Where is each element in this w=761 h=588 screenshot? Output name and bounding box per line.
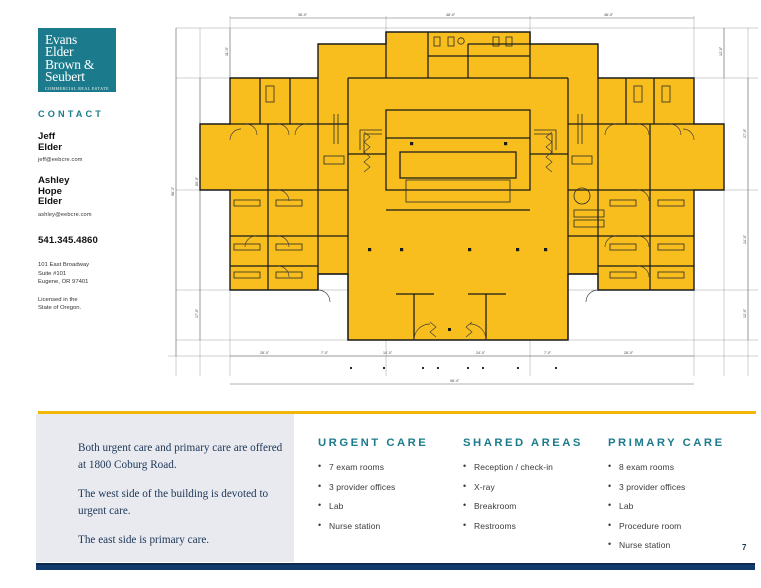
- license-note: Licensed in the State of Oregon.: [38, 296, 148, 313]
- svg-text:7'-0": 7'-0": [544, 351, 552, 355]
- list-item: 7 exam rooms: [318, 462, 458, 472]
- logo-line-4: Seubert: [45, 71, 109, 83]
- address-line-1: 101 East Broadway: [38, 261, 148, 270]
- svg-text:24'-0": 24'-0": [476, 351, 486, 355]
- svg-text:27'-0": 27'-0": [743, 128, 747, 138]
- column-heading: URGENT CARE: [318, 437, 458, 449]
- svg-text:12'-0": 12'-0": [719, 46, 723, 56]
- floorplan-drawing: .fl{fill:#F7BE1E;stroke:#1a1a1a;stroke-w…: [138, 4, 761, 404]
- svg-text:48'-0": 48'-0": [604, 13, 614, 17]
- page-number: 7: [742, 543, 746, 552]
- list-item: X-ray: [463, 482, 603, 492]
- svg-text:28'-0": 28'-0": [624, 351, 634, 355]
- column-shared-areas: SHARED AREAS Reception / check-in X-ray …: [463, 437, 603, 540]
- floorplan-svg: .fl{fill:#F7BE1E;stroke:#1a1a1a;stroke-w…: [138, 4, 761, 404]
- person-2-email[interactable]: ashley@eebcre.com: [38, 212, 148, 218]
- address-line-3: Eugene, OR 97401: [38, 278, 148, 287]
- footer-bar: [36, 563, 755, 570]
- person-2-name-line-3: Elder: [38, 197, 148, 208]
- list-item: Breakroom: [463, 501, 603, 511]
- list-item: Lab: [608, 501, 758, 511]
- contact-phone[interactable]: 541.345.4860: [38, 235, 148, 246]
- list-item: Nurse station: [608, 540, 758, 550]
- svg-text:98'-4": 98'-4": [450, 379, 460, 383]
- list-item: 3 provider offices: [608, 482, 758, 492]
- flyer-page: Evans Elder Brown & Seubert COMMERCIAL R…: [18, 0, 738, 570]
- svg-text:12'-0": 12'-0": [743, 308, 747, 318]
- logo-tagline: COMMERCIAL REAL ESTATE: [45, 87, 109, 91]
- column-heading: SHARED AREAS: [463, 437, 603, 449]
- contact-person-1: Jeff Elder: [38, 132, 148, 153]
- svg-text:98'-3": 98'-3": [171, 186, 175, 196]
- person-1-email[interactable]: jeff@eebcre.com: [38, 157, 148, 163]
- list-item: Restrooms: [463, 521, 603, 531]
- svg-text:28'-0": 28'-0": [260, 351, 270, 355]
- company-logo: Evans Elder Brown & Seubert COMMERCIAL R…: [38, 28, 116, 92]
- blurb-paragraph-3: The east side is primary care.: [78, 532, 283, 549]
- list-item: 3 provider offices: [318, 482, 458, 492]
- svg-text:17'-0": 17'-0": [195, 308, 199, 318]
- blurb-paragraph-2: The west side of the building is devoted…: [78, 486, 283, 519]
- column-heading: PRIMARY CARE: [608, 437, 758, 449]
- contact-person-2: Ashley Hope Elder: [38, 176, 148, 208]
- svg-text:11'-0": 11'-0": [225, 46, 229, 56]
- list-item: Reception / check-in: [463, 462, 603, 472]
- svg-text:14'-0": 14'-0": [383, 351, 393, 355]
- contact-rail: Evans Elder Brown & Seubert COMMERCIAL R…: [38, 28, 148, 313]
- list-item: Procedure room: [608, 521, 758, 531]
- svg-text:24'-0": 24'-0": [743, 234, 747, 244]
- person-1-name-line-2: Elder: [38, 143, 148, 154]
- svg-text:36'-0": 36'-0": [298, 13, 308, 17]
- license-line-2: State of Oregon.: [38, 304, 148, 313]
- column-primary-care: PRIMARY CARE 8 exam rooms 3 provider off…: [608, 437, 758, 560]
- blurb-paragraph-1: Both urgent care and primary care are of…: [78, 440, 283, 473]
- column-list: 7 exam rooms 3 provider offices Lab Nurs…: [318, 462, 458, 531]
- person-1-name-line-1: Jeff: [38, 132, 148, 143]
- contact-heading: CONTACT: [38, 109, 148, 119]
- license-line-1: Licensed in the: [38, 296, 148, 305]
- svg-text:48'-0": 48'-0": [446, 13, 456, 17]
- svg-text:80'-0": 80'-0": [195, 176, 199, 186]
- list-item: 8 exam rooms: [608, 462, 758, 472]
- svg-text:7'-0": 7'-0": [321, 351, 329, 355]
- office-address: 101 East Broadway Suite #101 Eugene, OR …: [38, 261, 148, 287]
- list-item: Nurse station: [318, 521, 458, 531]
- column-list: Reception / check-in X-ray Breakroom Res…: [463, 462, 603, 531]
- column-urgent-care: URGENT CARE 7 exam rooms 3 provider offi…: [318, 437, 458, 540]
- column-list: 8 exam rooms 3 provider offices Lab Proc…: [608, 462, 758, 550]
- list-item: Lab: [318, 501, 458, 511]
- address-line-2: Suite #101: [38, 270, 148, 279]
- blurb-text: Both urgent care and primary care are of…: [78, 440, 283, 562]
